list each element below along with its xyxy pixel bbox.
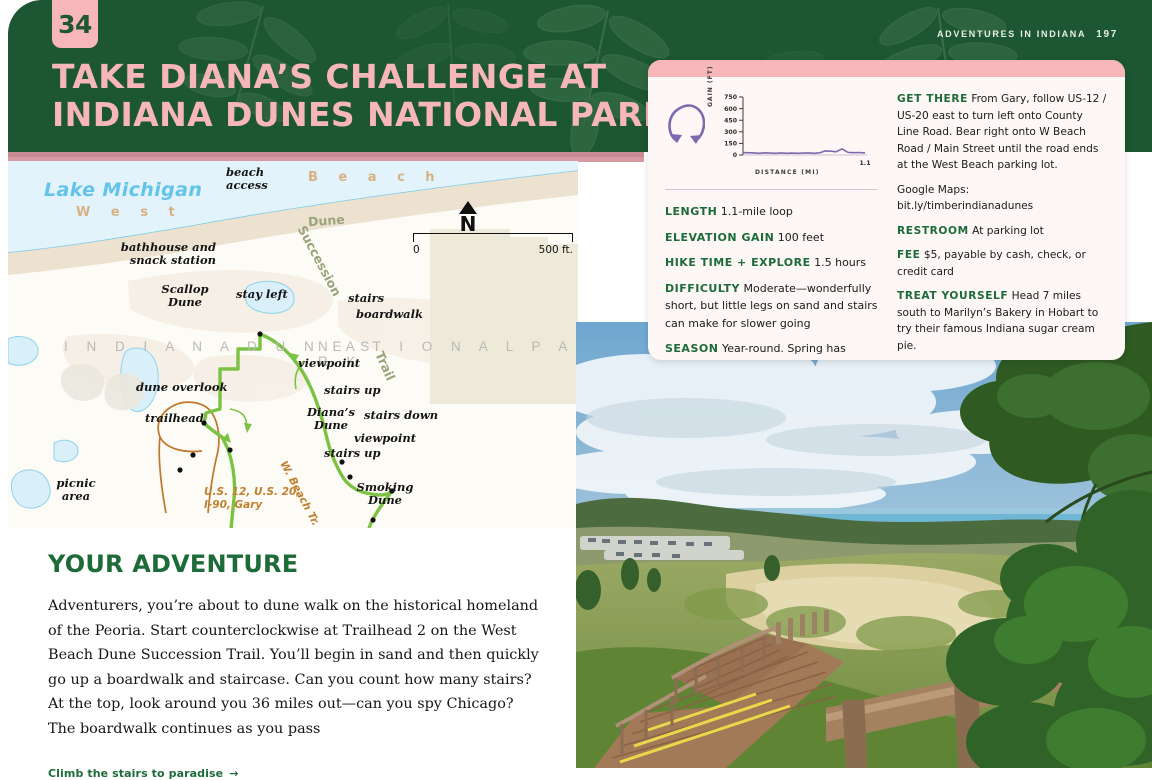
chart-svg: 0 150 300 450 600 750 — [709, 91, 873, 171]
card-right-column: GET THERE From Gary, follow US-12 / US-2… — [897, 91, 1107, 360]
svg-text:150: 150 — [724, 141, 738, 148]
svg-text:0: 0 — [733, 152, 738, 159]
map-label-dianas-dune: Diana’s Dune — [300, 406, 362, 432]
elevation-profile-row: GAIN (FT) DISTANCE (MI) — [665, 91, 883, 173]
stat-season-key: SEASON — [665, 342, 718, 355]
map-label-scallop-dune: Scallop Dune — [150, 283, 220, 309]
detail-treat-yourself-key: TREAT YOURSELF — [897, 290, 1008, 302]
north-letter: N — [450, 214, 486, 235]
stat-length-key: LENGTH — [665, 205, 717, 218]
map-label-trailhead: trailhead — [145, 412, 204, 425]
card-top-band — [648, 60, 1125, 77]
guidebook-spread: 34 TAKE DIANA’S CHALLENGE AT INDIANA DUN… — [0, 0, 1152, 768]
your-adventure-section: YOUR ADVENTURE Adventurers, you’re about… — [48, 550, 540, 780]
stat-season: SEASON Year-round. Spring has wildflower… — [665, 340, 883, 360]
detail-google-maps-value: Google Maps: bit.ly/timberindianadunes — [897, 184, 1033, 213]
detail-restroom: RESTROOM At parking lot — [897, 223, 1107, 240]
map-label-boardwalk: boardwalk — [356, 308, 423, 321]
svg-text:300: 300 — [724, 129, 738, 136]
detail-treat-yourself: TREAT YOURSELF Head 7 miles south to Mar… — [897, 288, 1107, 354]
map-label-beach: B e a c h — [308, 170, 443, 185]
running-head-text: ADVENTURES IN INDIANA — [937, 29, 1086, 39]
detail-fee: FEE $5, payable by cash, check, or credi… — [897, 247, 1107, 280]
stat-hike-time: HIKE TIME + EXPLORE 1.5 hours — [665, 254, 883, 272]
detail-restroom-value: At parking lot — [972, 225, 1044, 237]
hero-photo — [576, 322, 1152, 768]
detail-get-there: GET THERE From Gary, follow US-12 / US-2… — [897, 91, 1107, 174]
stat-hike-time-key: HIKE TIME + EXPLORE — [665, 256, 811, 269]
page-number: 197 — [1096, 29, 1118, 40]
svg-text:450: 450 — [724, 117, 738, 124]
your-adventure-body: Adventurers, you’re about to dune walk o… — [48, 594, 540, 741]
north-compass: N — [450, 201, 486, 235]
svg-text:750: 750 — [724, 94, 738, 101]
page-title: TAKE DIANA’S CHALLENGE AT INDIANA DUNES … — [52, 58, 672, 134]
map-label-west: W e s t — [76, 205, 183, 220]
arrow-right-icon: → — [229, 767, 238, 780]
map-label-stay-left: stay left — [236, 288, 288, 301]
map-scale-bar: 0 500 ft. — [413, 233, 573, 256]
card-divider — [665, 189, 877, 190]
map-label-stairs-up-upper: stairs up — [324, 384, 381, 397]
card-body: GAIN (FT) DISTANCE (MI) — [648, 77, 1125, 360]
scale-end-label: 500 ft. — [539, 244, 573, 256]
running-head: ADVENTURES IN INDIANA197 — [937, 29, 1118, 40]
detail-get-there-key: GET THERE — [897, 93, 968, 105]
map-label-beach-access: beach access — [226, 166, 288, 192]
map-label-smoking-dune: Smoking Dune — [348, 481, 422, 507]
detail-google-maps[interactable]: Google Maps: bit.ly/timberindianadunes — [897, 182, 1107, 215]
map-label-viewpoint-upper: viewpoint — [298, 357, 360, 370]
map-label-stairs-up-lower: stairs up — [324, 447, 381, 460]
map-label-bathhouse: bathhouse and snack station — [98, 241, 216, 267]
chart-x-axis-label: DISTANCE (MI) — [755, 169, 820, 176]
loop-arrow-icon — [665, 91, 709, 152]
scale-bar-line — [413, 233, 573, 242]
elevation-chart: GAIN (FT) DISTANCE (MI) — [709, 91, 873, 173]
chart-y-axis-label: GAIN (FT) — [707, 65, 714, 107]
stat-elevation-gain: ELEVATION GAIN 100 feet — [665, 229, 883, 247]
stat-difficulty: DIFFICULTY Moderate—wonderfully short, b… — [665, 280, 883, 333]
trail-info-card: GAIN (FT) DISTANCE (MI) — [648, 60, 1125, 360]
stat-length-value: 1.1-mile loop — [721, 205, 793, 218]
trail-map[interactable]: Lake Michigan W e s t B e a c h I N D I … — [8, 161, 578, 528]
map-road-label-highways: U.S. 12, U.S. 20, I-90, Gary — [204, 486, 300, 511]
stat-elevation-gain-key: ELEVATION GAIN — [665, 231, 774, 244]
photo-illustration — [576, 322, 1152, 768]
detail-fee-value: $5, payable by cash, check, or credit ca… — [897, 249, 1086, 278]
map-label-dune-overlook: dune overlook — [136, 381, 228, 394]
page-title-line-2: INDIANA DUNES NATIONAL PARK — [52, 96, 672, 134]
continue-link-label: Climb the stairs to paradise — [48, 767, 223, 780]
scale-start-label: 0 — [413, 244, 420, 256]
map-trail-word-dune: Dune — [308, 212, 346, 230]
map-label-stairs: stairs — [348, 292, 384, 305]
stat-elevation-gain-value: 100 feet — [778, 231, 824, 244]
stat-difficulty-key: DIFFICULTY — [665, 282, 740, 295]
page-title-line-1: TAKE DIANA’S CHALLENGE AT — [52, 58, 672, 96]
map-label-stairs-down: stairs down — [364, 409, 438, 422]
continue-link[interactable]: Climb the stairs to paradise→ — [48, 767, 540, 780]
map-label-lake-michigan: Lake Michigan — [44, 179, 202, 201]
stat-hike-time-value: 1.5 hours — [814, 256, 866, 269]
your-adventure-heading: YOUR ADVENTURE — [48, 550, 540, 578]
map-label-picnic-area: picnic area — [48, 477, 104, 503]
detail-fee-key: FEE — [897, 249, 921, 261]
stat-length: LENGTH 1.1-mile loop — [665, 203, 883, 221]
adventure-number-badge: 34 — [52, 0, 98, 48]
detail-restroom-key: RESTROOM — [897, 225, 969, 237]
map-label-viewpoint-lower: viewpoint — [354, 432, 416, 445]
chart-x-tick-label: 1.1 — [859, 159, 870, 167]
card-left-column: GAIN (FT) DISTANCE (MI) — [665, 91, 883, 360]
svg-text:600: 600 — [724, 106, 738, 113]
